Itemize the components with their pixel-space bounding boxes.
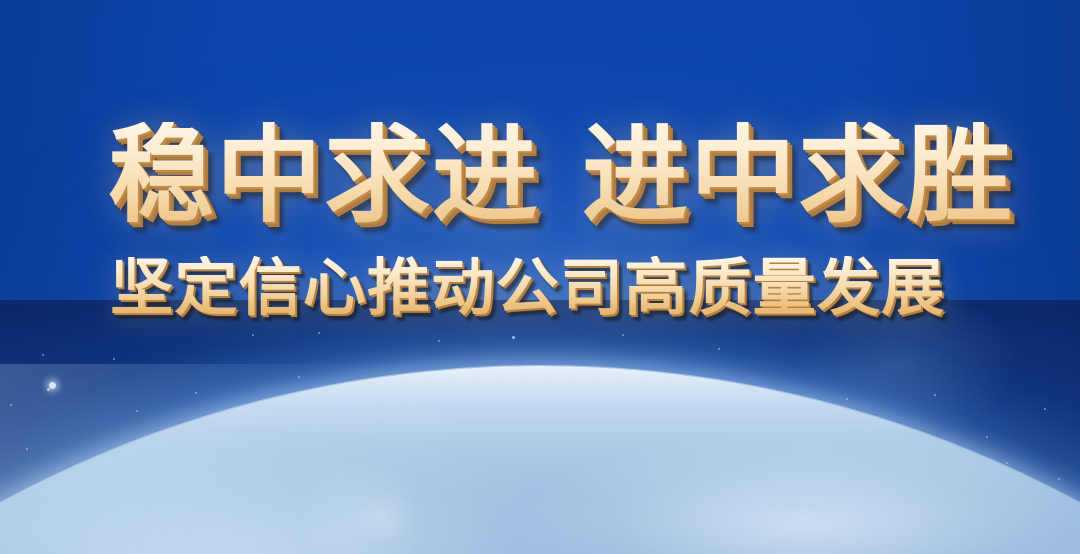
promotional-banner: 稳中求进 进中求胜 坚定信心推动公司高质量发展 xyxy=(0,0,1080,554)
earth-globe xyxy=(0,366,1080,554)
earth-scene xyxy=(0,254,1080,554)
